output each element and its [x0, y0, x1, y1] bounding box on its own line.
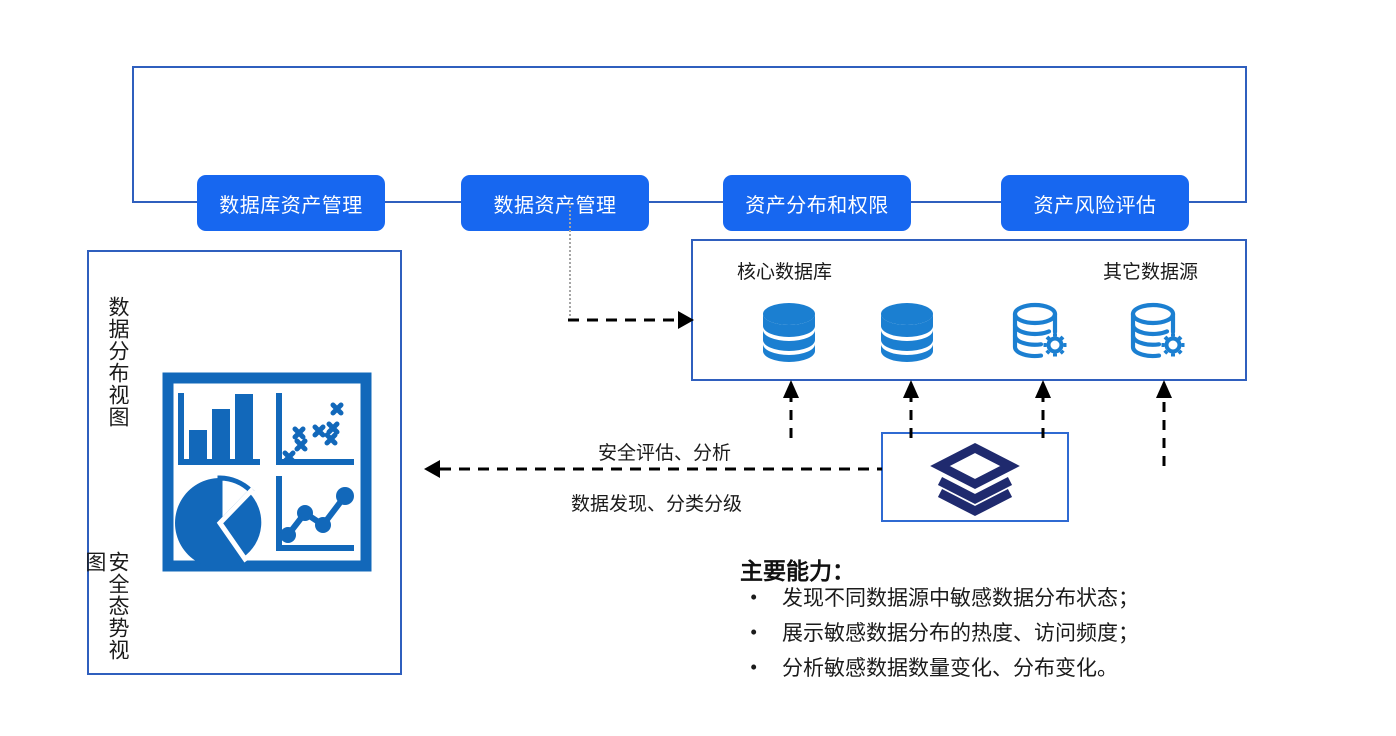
capabilities-list: • 发现不同数据源中敏感数据分布状态； • 展示敏感数据分布的热度、访问频度； … [744, 588, 1174, 693]
pill-label: 数据资产管理 [494, 189, 617, 218]
dashed-arrow-up [1152, 378, 1176, 468]
capability-bar: 数据库资产管理 数据资产管理 资产分布和权限 资产风险评估 [132, 66, 1247, 203]
analytics-dashboard-icon [163, 373, 371, 571]
diagram-canvas: 数据库资产管理 数据资产管理 资产分布和权限 资产风险评估 数据分布视图 安全态… [0, 0, 1396, 736]
list-item: • 发现不同数据源中敏感数据分布状态； [744, 588, 1174, 609]
list-item-text: 发现不同数据源中敏感数据分布状态； [782, 586, 1139, 610]
pill-label: 资产风险评估 [1034, 189, 1157, 218]
security-posture-view-label: 安全态势视图 [103, 551, 129, 677]
line-chart-quadrant [276, 476, 354, 551]
dashed-arrow-right [566, 306, 698, 334]
scatter-plot-quadrant [276, 393, 354, 465]
dashed-arrow-up [779, 378, 803, 440]
list-item-text: 分析敏感数据数量变化、分布变化。 [782, 656, 1118, 680]
bullet-glyph: • [750, 622, 757, 643]
layers-stack-icon [932, 443, 1018, 511]
dashed-arrow-up [1031, 378, 1055, 440]
list-item: • 分析敏感数据数量变化、分布变化。 [744, 658, 1174, 679]
bullet-glyph: • [750, 657, 757, 678]
database-gear-icon [1009, 301, 1073, 361]
capability-to-datasource-connector [569, 203, 571, 316]
capability-pill-asset-distribution-permissions[interactable]: 资产分布和权限 [723, 175, 911, 231]
pill-label: 数据库资产管理 [219, 189, 363, 218]
main-capabilities-title: 主要能力： [740, 552, 855, 586]
database-filled-icon [875, 301, 939, 361]
capability-pill-database-asset-management[interactable]: 数据库资产管理 [197, 175, 385, 231]
pie-chart-quadrant [175, 478, 265, 568]
data-distribution-view-label: 数据分布视图 [103, 296, 129, 446]
bar-chart-quadrant [178, 393, 260, 465]
list-item-text: 展示敏感数据分布的热度、访问频度； [782, 621, 1139, 645]
database-filled-icon [757, 301, 821, 361]
core-database-label: 核心数据库 [737, 257, 832, 284]
flow-label-assessment: 安全评估、分析 [598, 438, 731, 465]
database-gear-icon [1127, 301, 1191, 361]
flow-label-discovery: 数据发现、分类分级 [571, 489, 742, 516]
list-item: • 展示敏感数据分布的热度、访问频度； [744, 623, 1174, 644]
dashed-arrow-up [899, 378, 923, 440]
bullet-glyph: • [750, 587, 757, 608]
other-datasource-label: 其它数据源 [1103, 257, 1198, 284]
capability-pill-asset-risk-assessment[interactable]: 资产风险评估 [1001, 175, 1189, 231]
pill-label: 资产分布和权限 [745, 189, 889, 218]
capability-pill-data-asset-management[interactable]: 数据资产管理 [461, 175, 649, 231]
